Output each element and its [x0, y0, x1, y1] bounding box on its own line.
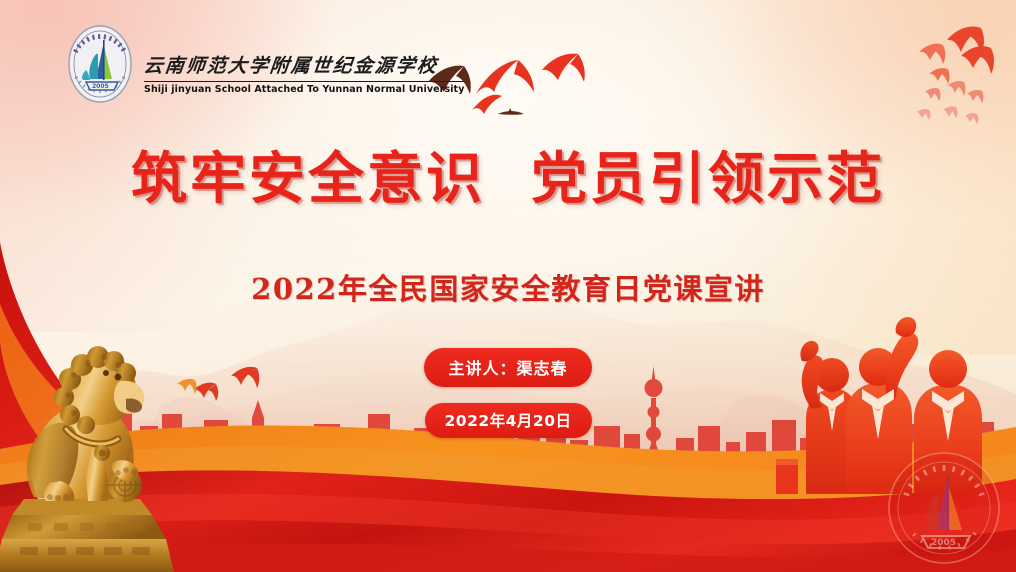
school-name-block: 云南师范大学附属世纪金源学校 Shiji jinyuan School Atta… — [144, 33, 464, 95]
school-name-en: Shiji jinyuan School Attached To Yunnan … — [144, 81, 464, 95]
school-branding: 2005 云南师范大学附属世纪金源学校 Shiji jinyuan School… — [66, 24, 464, 104]
stone-lion-statue-icon — [0, 307, 174, 572]
school-seal-watermark-icon: 2005 — [886, 450, 1002, 566]
main-title-right: 党员引领示范 — [531, 147, 885, 212]
school-name-cn: 云南师范大学附属世纪金源学校 — [143, 51, 466, 78]
main-title-left: 筑牢安全意识 — [131, 147, 485, 212]
sailboat-emblem-icon: 2005 — [66, 24, 134, 104]
svg-text:2005: 2005 — [92, 83, 109, 90]
dove-flock-icon — [903, 18, 1008, 136]
speaker-badge: 主讲人：渠志春 — [424, 348, 591, 387]
date-badge: 2022年4月20日 — [425, 403, 592, 438]
badge-group: 主讲人：渠志春 2022年4月20日 — [0, 348, 1016, 438]
page-title: 筑牢安全意识党员引领示范 — [0, 152, 1016, 208]
svg-text:2005: 2005 — [931, 538, 956, 548]
page-subtitle: 2022年全民国家安全教育日党课宣讲 — [0, 266, 1016, 308]
poster-canvas: 2005 云南师范大学附属世纪金源学校 Shiji jinyuan School… — [0, 0, 1016, 572]
